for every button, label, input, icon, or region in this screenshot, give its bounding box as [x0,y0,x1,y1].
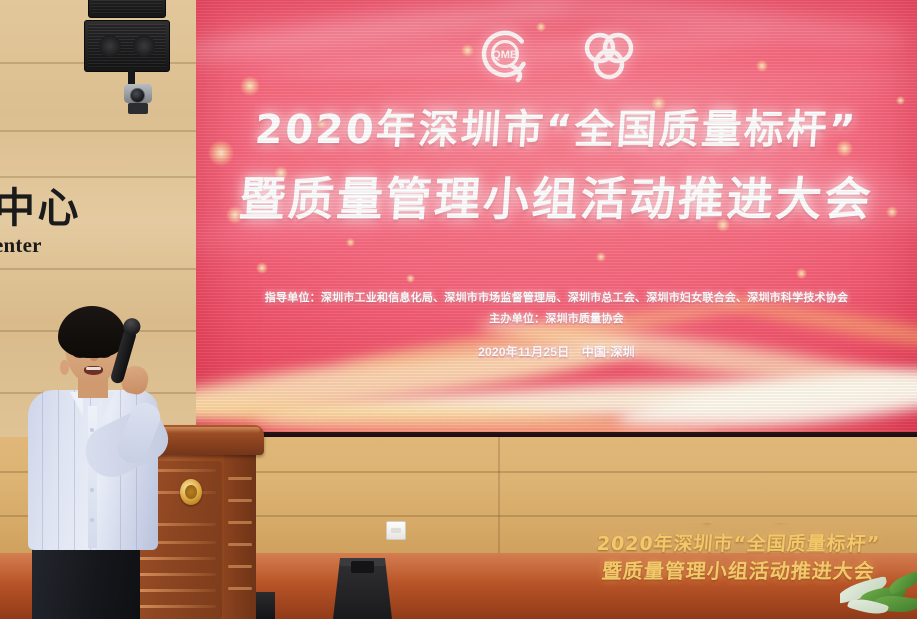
three-ring-logo [578,26,638,89]
led-logo-row: QMB [196,26,917,89]
led-host-line: 主办单位：深圳市质量协会 [196,310,917,326]
microphone-head [121,316,142,337]
led-organizers-line: 指导单位：深圳市工业和信息化局、深圳市市场监督管理局、深圳市总工会、深圳市妇女联… [196,289,917,305]
wall-speaker-lower [84,20,170,72]
svg-text:QMB: QMB [492,49,518,61]
decorative-plant [840,572,917,619]
qmb-circle-logo: QMB [476,26,534,89]
wall-signage: 中心 enter [0,188,81,258]
led-stage-screen: QMB [196,0,917,440]
person-mouth [84,366,103,375]
led-title-line-2: 暨质量管理小组活动推进大会 [196,163,917,229]
banner-line-1: 2020年深圳市“全国质量标杆” [560,529,917,556]
wall-sign-chinese: 中心 [0,188,81,229]
person-hair [58,306,126,358]
wall-speaker-upper [88,0,166,18]
ptz-camera [124,84,154,116]
speaker-person [18,306,204,619]
shirt-placket [88,406,97,548]
conference-photo-scene: QMB [0,0,917,619]
floor-monitor-speaker [333,558,392,619]
person-trousers [32,542,140,619]
wall-sign-english: enter [0,233,81,258]
light-switch-plate[interactable] [386,521,406,540]
led-date-city: 2020年11月25日 中国·深圳 [196,343,917,360]
led-title-line-1: 2020年深圳市“全国质量标杆” [196,97,917,155]
